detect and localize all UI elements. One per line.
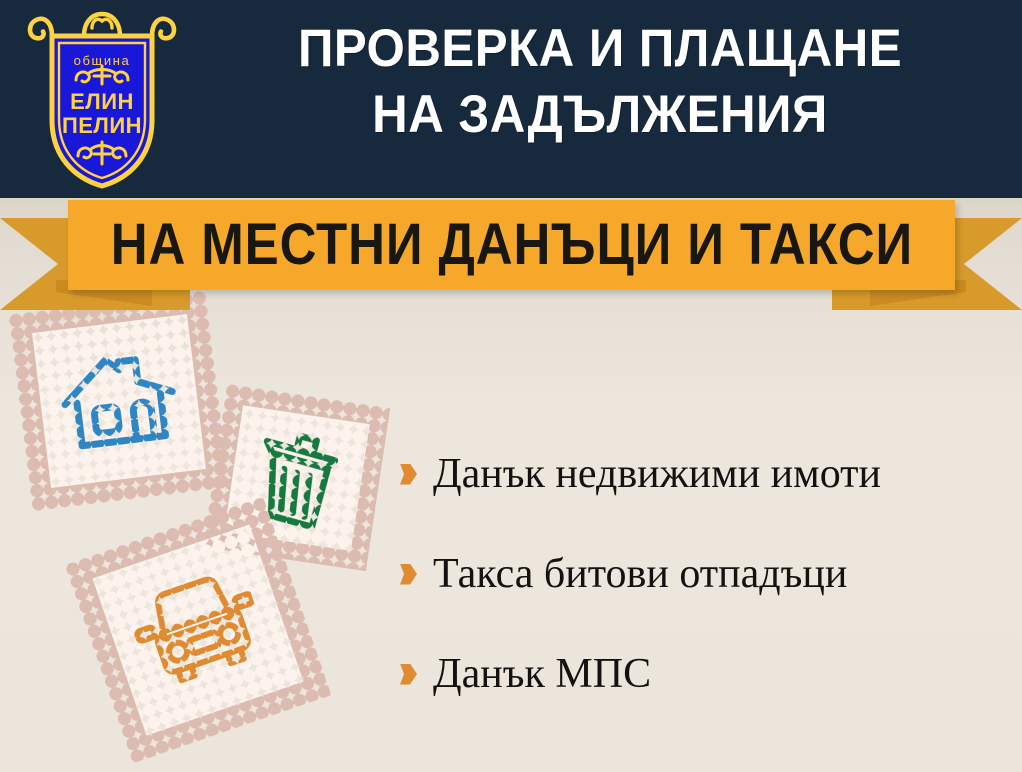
page-title: ПРОВЕРКА И ПЛАЩАНЕ НА ЗАДЪЛЖЕНИЯ <box>214 16 986 148</box>
svg-text:ЕЛИН: ЕЛИН <box>70 89 134 114</box>
stamp-card-house <box>9 291 230 512</box>
stamp-paper <box>92 524 303 735</box>
tax-type-list: Данък недвижими имоти Такса битови отпад… <box>400 424 1012 724</box>
subtitle-ribbon: НА МЕСТНИ ДАНЪЦИ И ТАКСИ <box>0 198 1022 310</box>
house-icon <box>54 342 184 460</box>
list-item-label: Данък МПС <box>433 651 651 697</box>
bullet-arrow-icon <box>400 464 417 485</box>
ribbon-label: НА МЕСТНИ ДАНЪЦИ И ТАКСИ <box>110 216 912 274</box>
page-title-line-2: НА ЗАДЪЛЖЕНИЯ <box>214 82 986 148</box>
bullet-arrow-icon <box>400 564 417 585</box>
svg-text:ПЕЛИН: ПЕЛИН <box>62 113 142 138</box>
car-icon <box>123 563 273 698</box>
stamp-group <box>0 290 420 772</box>
stamp-paper <box>32 314 206 488</box>
list-item-label: Такса битови отпадъци <box>433 551 847 597</box>
list-item[interactable]: Данък недвижими имоти <box>400 424 1012 524</box>
ribbon-banner: НА МЕСТНИ ДАНЪЦИ И ТАКСИ <box>68 200 955 290</box>
coat-of-arms-icon: община ЕЛИН ПЕЛИН <box>22 8 182 194</box>
bullet-arrow-icon <box>400 664 417 685</box>
list-item[interactable]: Такса битови отпадъци <box>400 524 1012 624</box>
list-item-label: Данък недвижими имоти <box>433 451 881 497</box>
header-bar: община ЕЛИН ПЕЛИН <box>0 0 1022 198</box>
page-title-line-1: ПРОВЕРКА И ПЛАЩАНЕ <box>214 16 986 82</box>
poster-root: община ЕЛИН ПЕЛИН <box>0 0 1022 772</box>
list-item[interactable]: Данък МПС <box>400 624 1012 724</box>
